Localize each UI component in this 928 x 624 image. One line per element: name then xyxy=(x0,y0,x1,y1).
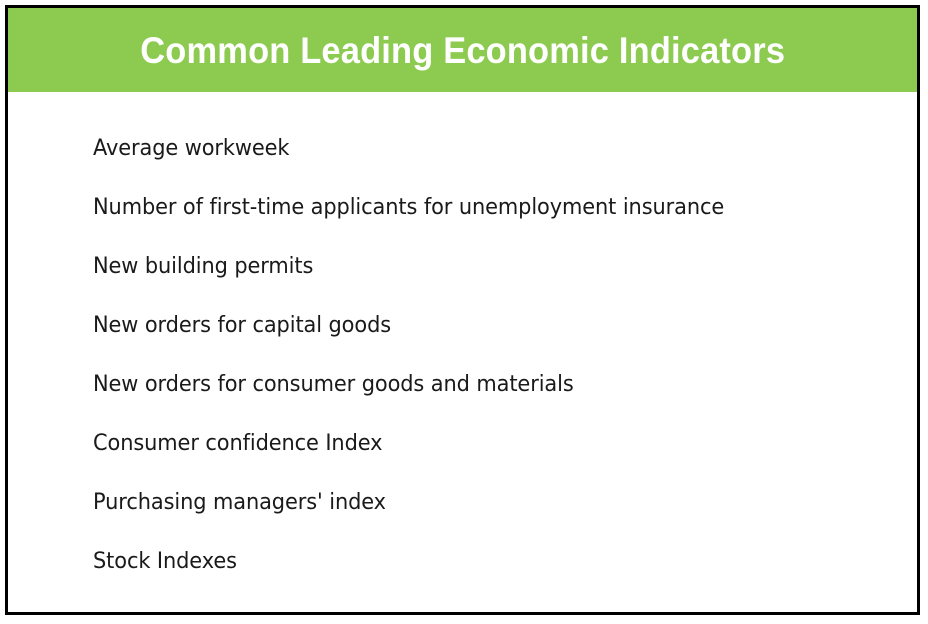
list-item-label: Average workweek xyxy=(93,136,289,161)
list-item: Number of first-time applicants for unem… xyxy=(93,178,866,237)
list-item: New building permits xyxy=(93,237,866,296)
list-item: Stock Indexes xyxy=(93,532,866,591)
slide-frame: Common Leading Economic Indicators Avera… xyxy=(5,5,920,615)
list-item: Purchasing managers' index xyxy=(93,473,866,532)
list-item-label: New orders for capital goods xyxy=(93,313,391,338)
list-item-label: Stock Indexes xyxy=(93,549,237,574)
page-title: Common Leading Economic Indicators xyxy=(140,32,785,69)
title-banner: Common Leading Economic Indicators xyxy=(8,8,917,92)
list-item-label: New building permits xyxy=(93,254,313,279)
indicator-list: Average workweek Number of first-time ap… xyxy=(93,119,907,591)
list-item: New orders for capital goods xyxy=(93,296,866,355)
list-item: Consumer confidence Index xyxy=(93,414,866,473)
slide-body: Average workweek Number of first-time ap… xyxy=(8,92,917,612)
list-item-label: Purchasing managers' index xyxy=(93,490,386,515)
list-item-label: Number of first-time applicants for unem… xyxy=(93,195,724,220)
list-item-label: Consumer confidence Index xyxy=(93,431,382,456)
list-item: Average workweek xyxy=(93,119,866,178)
list-item: New orders for consumer goods and materi… xyxy=(93,355,866,414)
list-item-label: New orders for consumer goods and materi… xyxy=(93,372,574,397)
